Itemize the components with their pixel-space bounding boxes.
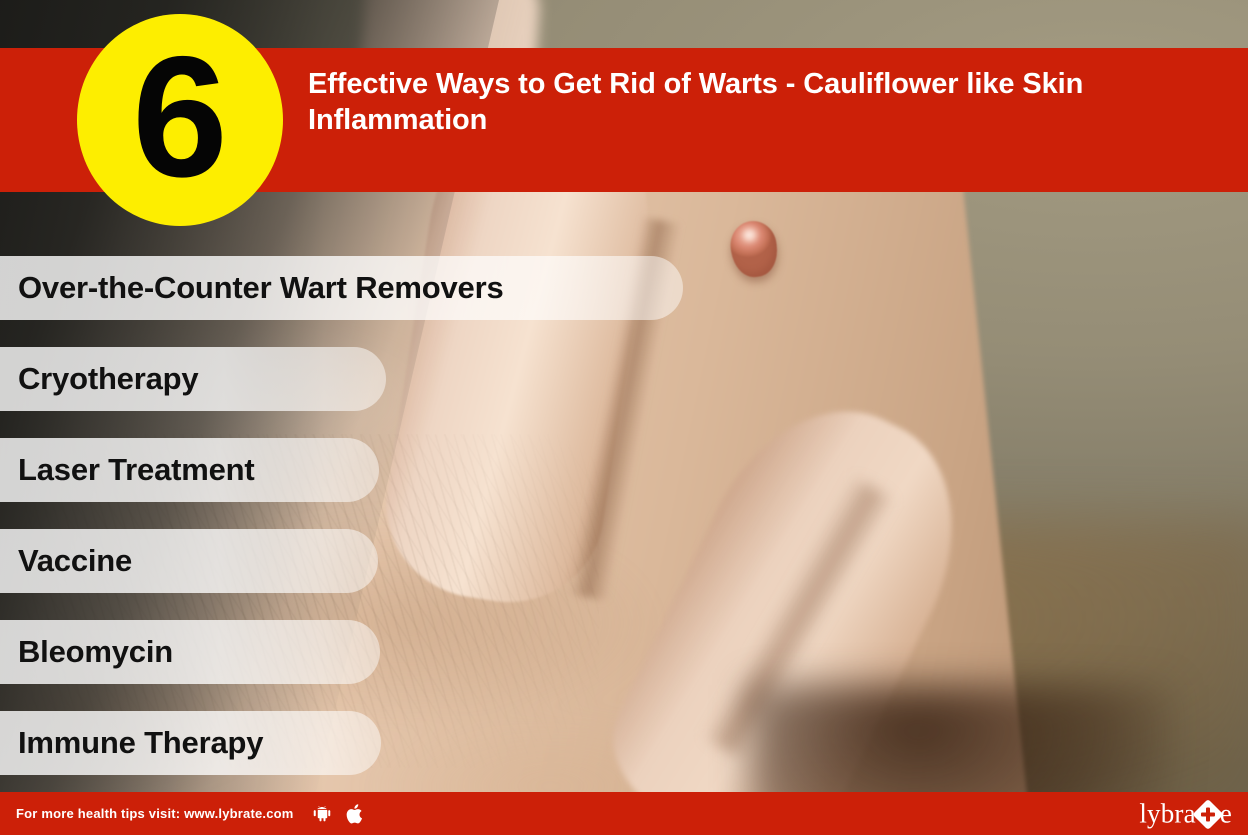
list-item[interactable]: Over-the-Counter Wart Removers [0,256,683,320]
footer-text: For more health tips visit: www.lybrate.… [16,806,294,821]
brand-logo-text-pre: lybra [1139,798,1195,829]
number-badge: 6 [77,14,283,226]
list-item[interactable]: Laser Treatment [0,438,379,502]
treatment-list: Over-the-Counter Wart Removers Cryothera… [0,256,683,802]
number-badge-value: 6 [132,31,228,203]
list-item[interactable]: Vaccine [0,529,378,593]
brand-logo[interactable]: lybra e [1139,798,1232,829]
list-item-label: Laser Treatment [18,452,255,488]
store-badges [312,803,365,825]
list-item-label: Cryotherapy [18,361,198,397]
list-item-label: Immune Therapy [18,725,263,761]
apple-icon[interactable] [346,803,365,825]
list-item[interactable]: Immune Therapy [0,711,381,775]
list-item[interactable]: Cryotherapy [0,347,386,411]
footer-band: For more health tips visit: www.lybrate.… [0,792,1248,835]
medical-cross-diamond-icon [1197,804,1219,826]
android-icon[interactable] [312,804,332,824]
list-item[interactable]: Bleomycin [0,620,380,684]
list-item-label: Over-the-Counter Wart Removers [18,270,504,306]
list-item-label: Vaccine [18,543,132,579]
list-item-label: Bleomycin [18,634,173,670]
infographic-poster: Effective Ways to Get Rid of Warts - Cau… [0,0,1248,835]
page-title: Effective Ways to Get Rid of Warts - Cau… [308,66,1223,138]
